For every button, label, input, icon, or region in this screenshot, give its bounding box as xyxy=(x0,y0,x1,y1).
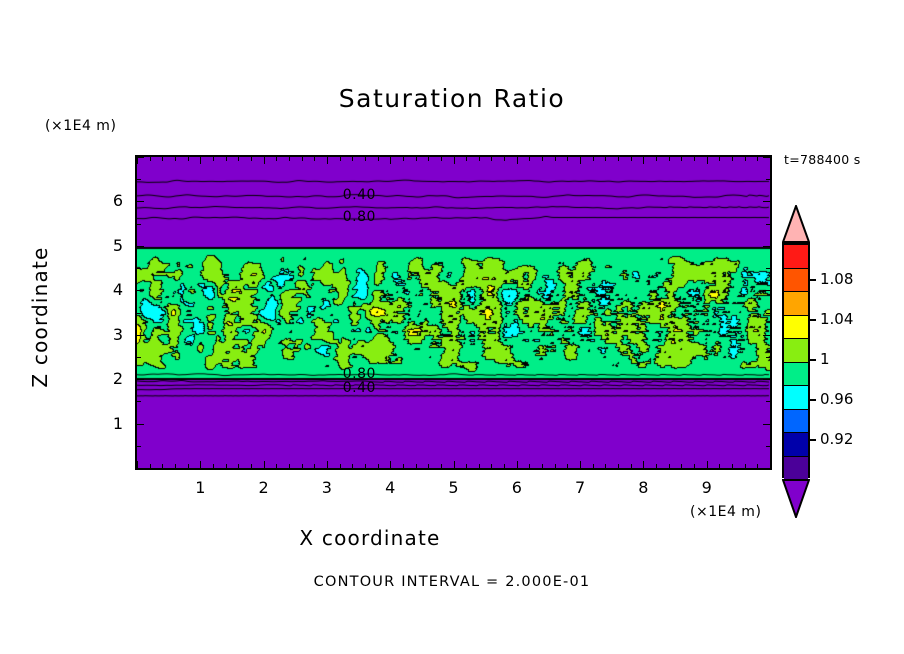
x-tick-label: 6 xyxy=(497,478,537,497)
x-axis-title: X coordinate xyxy=(0,526,740,550)
x-tick-label: 7 xyxy=(560,478,600,497)
colorbar-tick-label: 0.96 xyxy=(820,390,853,408)
saturation-field xyxy=(137,157,770,468)
colorbar-tick xyxy=(810,359,816,361)
colorbar-bottom-cap-icon xyxy=(782,478,810,518)
colorbar-tick xyxy=(810,399,816,401)
colorbar-band xyxy=(784,245,808,269)
contour-label: 0.40 xyxy=(343,380,376,396)
page-title: Saturation Ratio xyxy=(0,84,904,113)
colorbar-band xyxy=(784,363,808,387)
y-axis-unit-label: (×1E4 m) xyxy=(45,118,116,134)
x-tick-label: 3 xyxy=(307,478,347,497)
x-tick-label: 9 xyxy=(687,478,727,497)
x-tick-label: 4 xyxy=(370,478,410,497)
y-tick-label: 1 xyxy=(93,414,123,433)
time-annotation: t=788400 s xyxy=(784,152,861,167)
colorbar-band xyxy=(784,269,808,293)
contour-label: 0.80 xyxy=(343,366,376,382)
y-tick-label: 2 xyxy=(93,369,123,388)
colorbar-band xyxy=(784,433,808,457)
x-axis-unit-label: (×1E4 m) xyxy=(690,504,761,520)
x-tick-label: 8 xyxy=(623,478,663,497)
colorbar-band xyxy=(784,339,808,363)
colorbar-tick xyxy=(810,439,816,441)
colorbar-tick xyxy=(810,319,816,321)
contour-label: 0.80 xyxy=(343,209,376,225)
colorbar-tick-label: 1.04 xyxy=(820,310,853,328)
contour-label: 0.40 xyxy=(343,187,376,203)
colorbar-bands xyxy=(782,243,810,478)
y-tick-label: 6 xyxy=(93,191,123,210)
colorbar-tick-label: 1 xyxy=(820,350,830,368)
colorbar-band xyxy=(784,292,808,316)
x-tick-label: 2 xyxy=(244,478,284,497)
y-tick-label: 3 xyxy=(93,325,123,344)
y-axis-title: Z coordinate xyxy=(28,217,52,417)
colorbar-band xyxy=(784,316,808,340)
colorbar-tick xyxy=(810,279,816,281)
x-tick-label: 1 xyxy=(180,478,220,497)
colorbar-band xyxy=(784,457,808,481)
colorbar[interactable]: 1.081.0410.960.92 xyxy=(776,205,820,515)
colorbar-top-cap-icon xyxy=(782,205,810,243)
x-tick-label: 5 xyxy=(434,478,474,497)
contour-interval-note: CONTOUR INTERVAL = 2.000E-01 xyxy=(0,574,904,590)
colorbar-band xyxy=(784,386,808,410)
colorbar-tick-label: 1.08 xyxy=(820,270,853,288)
colorbar-band xyxy=(784,410,808,434)
colorbar-tick-label: 0.92 xyxy=(820,430,853,448)
y-tick-label: 4 xyxy=(93,280,123,299)
contour-plot[interactable]: 0.400.800.800.40 xyxy=(135,155,772,470)
y-tick-label: 5 xyxy=(93,236,123,255)
